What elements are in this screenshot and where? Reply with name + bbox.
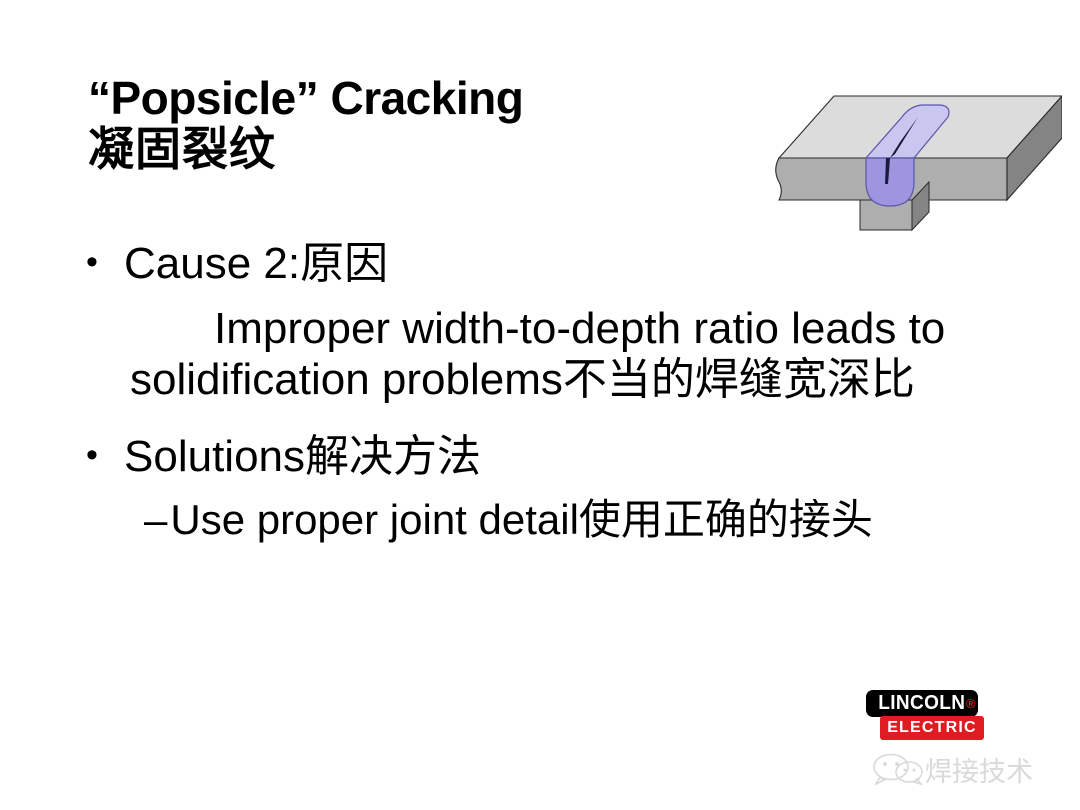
bullet-label-solutions: Solutions解决方法 [124, 431, 481, 482]
title-line-english: “Popsicle” Cracking [88, 74, 768, 124]
channel-watermark: 焊接技术 [872, 748, 1072, 790]
weld-joint-diagram [762, 72, 1062, 232]
bullet-item-solutions: • Solutions解决方法 [86, 431, 1036, 482]
watermark-label: 焊接技术 [925, 750, 1033, 789]
cause-detail-line-1: Improper width-to-depth ratio leads to [86, 303, 1036, 354]
electric-wordmark-text: ELECTRIC [887, 719, 977, 737]
slide-body: • Cause 2:原因 Improper width-to-depth rat… [86, 238, 1036, 545]
slide-canvas: “Popsicle” Cracking 凝固裂纹 • Cause 2:原因 Im… [0, 0, 1080, 810]
bullet-marker-icon: • [86, 431, 124, 480]
lincoln-wordmark-text: LINCOLN [878, 692, 965, 715]
title-line-chinese: 凝固裂纹 [88, 124, 768, 176]
spacer [86, 482, 1036, 496]
sub-bullet-label-joint-detail: Use proper joint detail使用正确的接头 [170, 496, 873, 545]
registered-trademark-icon: ® [966, 697, 976, 710]
cause-detail-line-2: solidification problems不当的焊缝宽深比 [86, 354, 1036, 405]
weld-bead-front [866, 158, 914, 206]
bullet-item-cause: • Cause 2:原因 [86, 238, 1036, 289]
dash-marker-icon: – [144, 496, 170, 545]
spacer [86, 289, 1036, 303]
wechat-icon [872, 752, 924, 786]
lincoln-electric-logo: LINCOLN ® ELECTRIC [866, 690, 988, 746]
spacer [86, 405, 1036, 431]
slide-title: “Popsicle” Cracking 凝固裂纹 [88, 74, 768, 175]
electric-wordmark-bar: ELECTRIC [880, 716, 984, 740]
lincoln-wordmark-bar: LINCOLN [866, 690, 978, 717]
sub-bullet-item-joint-detail: – Use proper joint detail使用正确的接头 [86, 496, 1036, 545]
bullet-marker-icon: • [86, 238, 124, 287]
bullet-label-cause: Cause 2:原因 [124, 238, 388, 289]
